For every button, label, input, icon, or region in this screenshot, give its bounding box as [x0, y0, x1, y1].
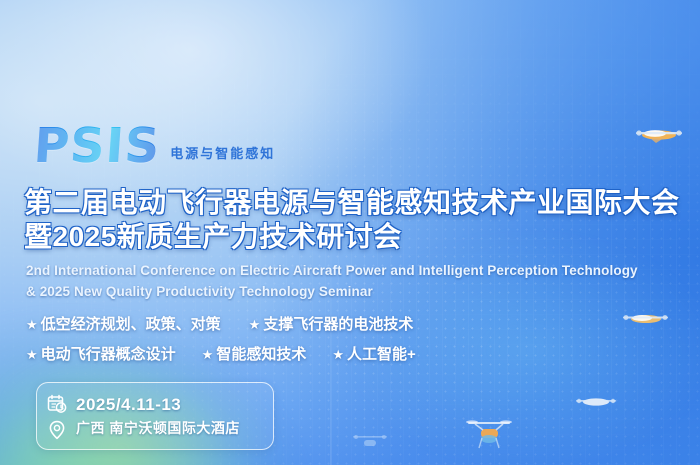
star-icon: ★	[26, 347, 38, 362]
star-icon: ★	[26, 317, 38, 332]
title-chinese-line1: 第二届电动飞行器电源与智能感知技术产业国际大会	[24, 187, 680, 218]
info-icon-column	[47, 392, 67, 440]
location-pin-icon	[47, 420, 67, 440]
conference-poster: PSIS 电源与智能感知 第二届电动飞行器电源与智能感知技术产业国际大会 暨20…	[0, 0, 700, 465]
psis-acronym-subtitle: 电源与智能感知	[170, 143, 275, 170]
topic-label: 电动飞行器概念设计	[41, 346, 176, 363]
topic-item: ★支撑飞行器的电池技术	[249, 310, 414, 340]
topic-label: 支撑飞行器的电池技术	[263, 316, 413, 333]
star-icon: ★	[202, 347, 214, 362]
event-date: 2025/4.11-13	[76, 395, 240, 415]
page-title-english: 2nd International Conference on Electric…	[26, 260, 676, 302]
topic-item: ★低空经济规划、政策、对策	[26, 310, 221, 340]
topic-list: ★低空经济规划、政策、对策 ★支撑飞行器的电池技术 ★电动飞行器概念设计 ★智能…	[26, 310, 666, 370]
topic-row-1: ★低空经济规划、政策、对策 ★支撑飞行器的电池技术	[26, 310, 666, 340]
star-icon: ★	[249, 317, 261, 332]
calendar-clock-icon	[47, 394, 67, 414]
title-english-line2: & 2025 New Quality Productivity Technolo…	[26, 281, 676, 302]
psis-acronym-logo: PSIS	[32, 122, 162, 170]
poster-content: PSIS 电源与智能感知 第二届电动飞行器电源与智能感知技术产业国际大会 暨20…	[0, 0, 700, 465]
topic-item: ★人工智能+	[332, 340, 415, 370]
topic-row-2: ★电动飞行器概念设计 ★智能感知技术 ★人工智能+	[26, 340, 666, 370]
topic-label: 智能感知技术	[216, 346, 306, 363]
event-info-box: 2025/4.11-13 广西 南宁沃顿国际大酒店	[36, 382, 274, 450]
logo-block: PSIS 电源与智能感知	[34, 122, 275, 170]
page-title-chinese: 第二届电动飞行器电源与智能感知技术产业国际大会 暨2025新质生产力技术研讨会	[24, 186, 684, 254]
event-venue: 广西 南宁沃顿国际大酒店	[76, 418, 240, 438]
topic-item: ★电动飞行器概念设计	[26, 340, 176, 370]
star-icon: ★	[332, 347, 344, 362]
topic-label: 低空经济规划、政策、对策	[41, 316, 221, 333]
topic-item: ★智能感知技术	[202, 340, 307, 370]
title-english-line1: 2nd International Conference on Electric…	[26, 260, 676, 281]
title-chinese-line2: 暨2025新质生产力技术研讨会	[24, 220, 684, 254]
topic-label: 人工智能+	[347, 346, 416, 363]
info-text-column: 2025/4.11-13 广西 南宁沃顿国际大酒店	[76, 395, 240, 438]
